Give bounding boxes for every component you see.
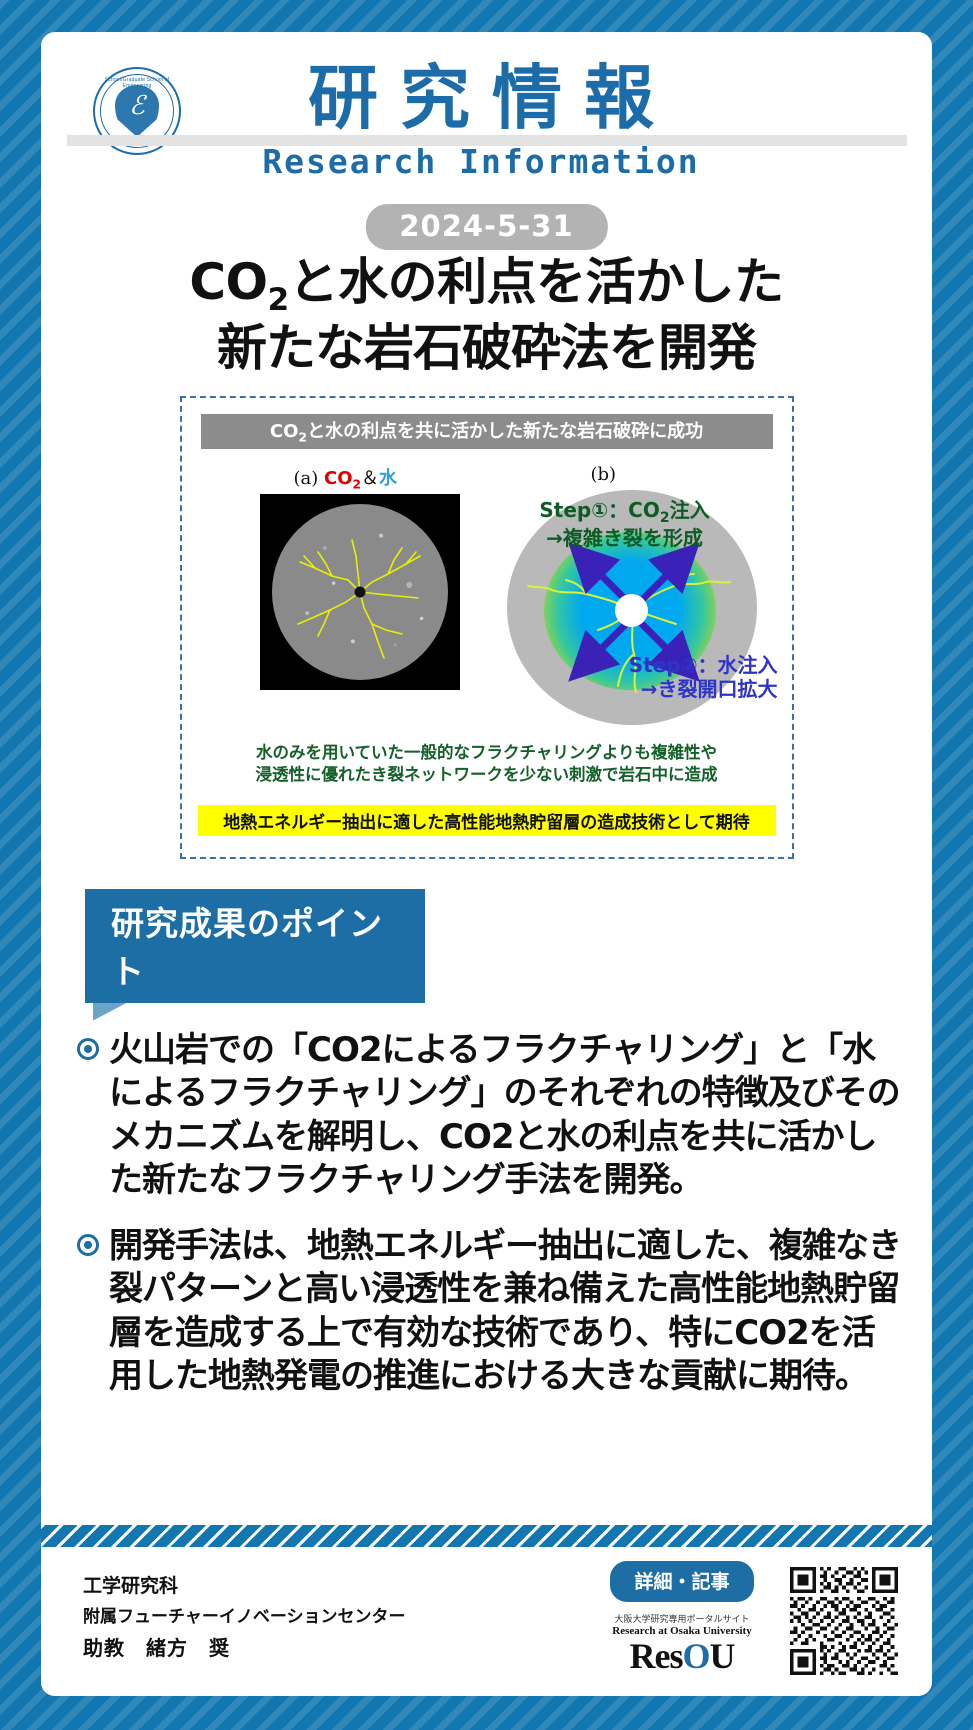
panel-a-water: 水 bbox=[379, 468, 397, 489]
header-english-title: Research Information bbox=[211, 142, 751, 181]
resou-subtitle-ja: 大阪大学研究専用ポータルサイト bbox=[592, 1612, 772, 1625]
panel-a-letter: (a) bbox=[294, 468, 319, 489]
points-heading-wrapper: 研究成果のポイント bbox=[85, 889, 425, 1003]
page-title-line1-post: と水の利点を活かした bbox=[289, 253, 784, 311]
page-title: CO2と水の利点を活かした 新たな岩石破砕法を開発 bbox=[41, 253, 932, 378]
page-title-line1-sub: 2 bbox=[268, 282, 289, 318]
figure-banner: CO2と水の利点を共に活かした新たな岩石破砕に成功 bbox=[201, 414, 773, 450]
qr-code-image bbox=[790, 1567, 898, 1675]
footer-divider-stripe bbox=[41, 1525, 932, 1547]
points-heading: 研究成果のポイント bbox=[85, 889, 425, 1003]
page-title-line2: 新たな岩石破砕法を開発 bbox=[41, 319, 932, 378]
author-name: 助教 緒方 奨 bbox=[83, 1632, 406, 1661]
figure-panel-b-label: (b) bbox=[591, 464, 617, 485]
figure-banner-sub: 2 bbox=[298, 429, 307, 444]
resou-block: 詳細・記事 大阪大学研究専用ポータルサイト Research at Osaka … bbox=[592, 1561, 772, 1674]
points-heading-tail bbox=[93, 1003, 127, 1021]
poster-header: School/Graduate School of Engineering OS… bbox=[41, 32, 932, 237]
list-item: 開発手法は、地熱エネルギー抽出に適した、複雑なき裂パターンと高い浸透性を兼ね備え… bbox=[77, 1225, 902, 1399]
research-figure: CO2と水の利点を共に活かした新たな岩石破砕に成功 (a) CO2＆水 (b) bbox=[180, 396, 794, 859]
bullet-double-circle-icon bbox=[77, 1234, 99, 1256]
bullet-double-circle-icon bbox=[77, 1038, 99, 1060]
list-item-text: 火山岩での「CO2によるフラクチャリング」と「水によるフラクチャリング」のそれぞ… bbox=[109, 1029, 902, 1203]
panel-a-ampersand: ＆ bbox=[361, 468, 379, 489]
page-title-line1-pre: CO bbox=[189, 253, 267, 311]
details-article-button[interactable]: 詳細・記事 bbox=[610, 1561, 753, 1602]
ct-scan-image bbox=[260, 494, 460, 690]
figure-banner-pre: CO bbox=[270, 421, 299, 442]
figure-banner-post: と水の利点を共に活かした新たな岩石破砕に成功 bbox=[307, 421, 703, 442]
figure-caption: 水のみを用いていた一般的なフラクチャリングよりも複雑性や 浸透性に優れたき裂ネッ… bbox=[208, 742, 766, 787]
panel-a-co2: CO2 bbox=[324, 468, 361, 489]
poster-card: School/Graduate School of Engineering OS… bbox=[41, 32, 932, 1696]
affiliation-line-1: 工学研究科 bbox=[83, 1571, 406, 1598]
figure-panel-a-label: (a) CO2＆水 bbox=[294, 464, 398, 492]
resou-wordmark: ResOU bbox=[592, 1638, 772, 1674]
poster-footer: 工学研究科 附属フューチャーイノベーションセンター 助教 緒方 奨 詳細・記事 … bbox=[41, 1547, 932, 1696]
step-2-label: Step②：水注入 →き裂開口拡大 bbox=[538, 653, 778, 701]
header-kanji-title: 研究情報 bbox=[211, 62, 751, 136]
list-item: 火山岩での「CO2によるフラクチャリング」と「水によるフラクチャリング」のそれぞ… bbox=[77, 1029, 902, 1203]
points-list: 火山岩での「CO2によるフラクチャリング」と「水によるフラクチャリング」のそれぞ… bbox=[77, 1029, 902, 1399]
date-badge: 2024-5-31 bbox=[365, 204, 607, 250]
qr-code[interactable] bbox=[790, 1567, 898, 1675]
affiliation-line-2: 附属フューチャーイノベーションセンター bbox=[83, 1602, 406, 1627]
step-1-label: Step①：CO2注入 →複雑き裂を形成 bbox=[495, 498, 755, 551]
list-item-text: 開発手法は、地熱エネルギー抽出に適した、複雑なき裂パターンと高い浸透性を兼ね備え… bbox=[109, 1225, 902, 1399]
author-affiliation: 工学研究科 附属フューチャーイノベーションセンター 助教 緒方 奨 bbox=[83, 1571, 406, 1661]
figure-highlight-banner: 地熱エネルギー抽出に適した高性能地熱貯留層の造成技術として期待 bbox=[198, 805, 776, 836]
